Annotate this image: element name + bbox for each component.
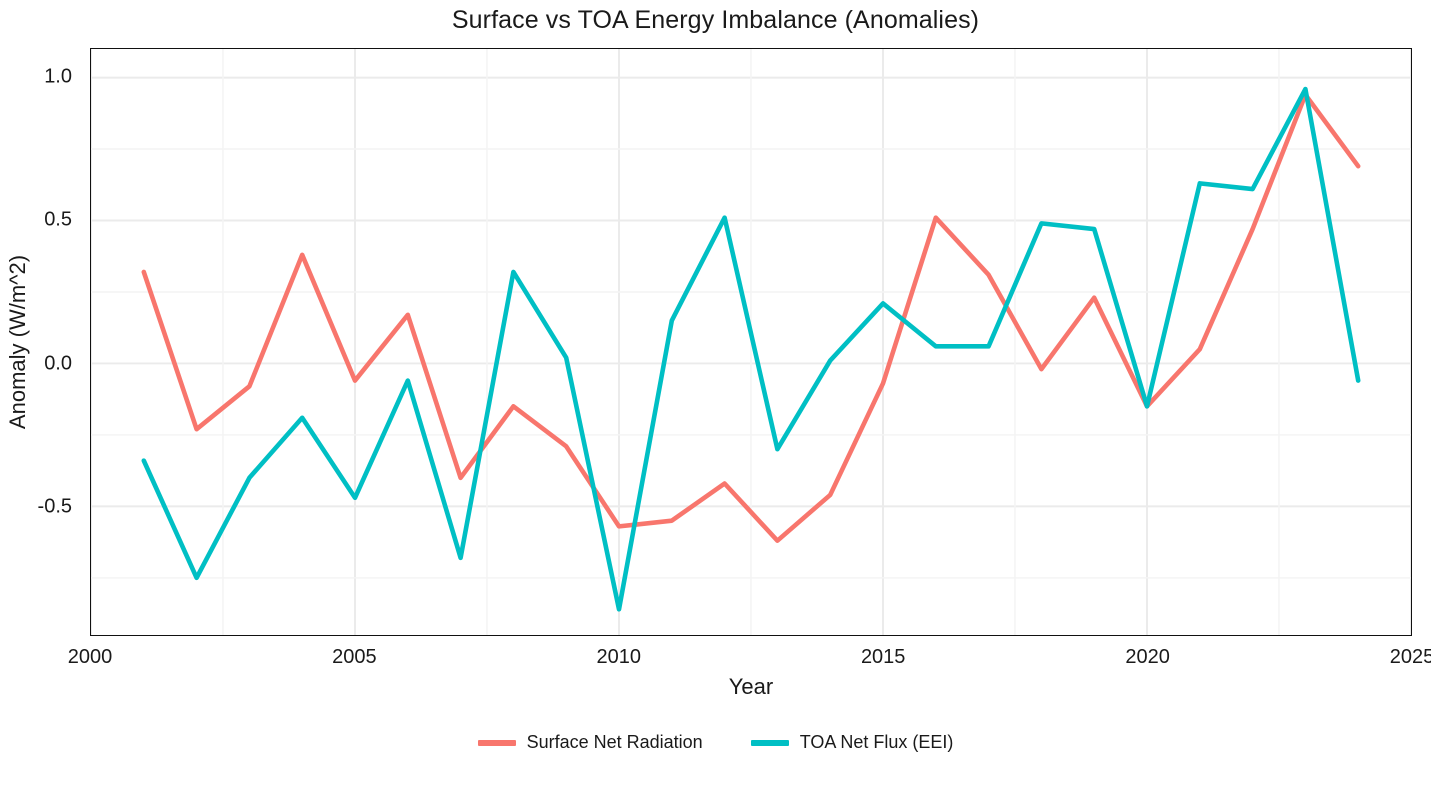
chart-legend: Surface Net RadiationTOA Net Flux (EEI): [0, 732, 1431, 753]
legend-swatch-icon: [751, 740, 789, 746]
plot-area: [90, 48, 1412, 636]
legend-item-1[interactable]: TOA Net Flux (EEI): [751, 732, 954, 753]
page-title: Surface vs TOA Energy Imbalance (Anomali…: [0, 6, 1431, 35]
plot-canvas: [91, 49, 1411, 635]
y-tick-label: 1.0: [0, 65, 72, 88]
y-tick-label: 0.5: [0, 209, 72, 232]
x-tick-label: 2010: [574, 646, 664, 669]
x-tick-label: 2020: [1103, 646, 1193, 669]
chart-page: Surface vs TOA Energy Imbalance (Anomali…: [0, 0, 1431, 795]
legend-label: TOA Net Flux (EEI): [800, 732, 954, 753]
y-axis-title-label: Anomaly (W/m^2): [5, 255, 31, 429]
x-axis-title: Year: [90, 674, 1412, 700]
y-tick-label: 0.0: [0, 352, 72, 375]
x-tick-label: 2015: [838, 646, 928, 669]
legend-label: Surface Net Radiation: [527, 732, 703, 753]
legend-item-0[interactable]: Surface Net Radiation: [478, 732, 703, 753]
x-tick-label: 2025: [1367, 646, 1431, 669]
y-tick-label: -0.5: [0, 495, 72, 518]
y-axis-title: Anomaly (W/m^2): [0, 48, 38, 636]
x-tick-label: 2000: [45, 646, 135, 669]
legend-swatch-icon: [478, 740, 516, 746]
x-tick-label: 2005: [309, 646, 399, 669]
